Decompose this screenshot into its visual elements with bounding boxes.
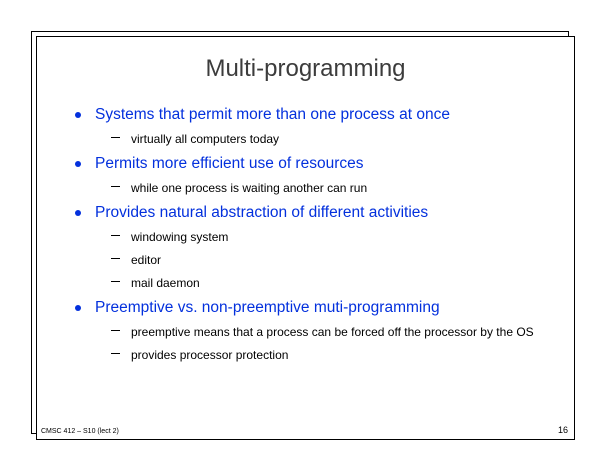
- sub-bullet-item: virtually all computers today: [37, 130, 574, 148]
- sub-bullet-item: windowing system: [37, 228, 574, 246]
- sub-bullet-text: virtually all computers today: [131, 132, 279, 146]
- slide-title: Multi-programming: [37, 55, 574, 83]
- sub-bullet-text: provides processor protection: [131, 348, 288, 362]
- bullet-text: Systems that permit more than one proces…: [95, 106, 450, 123]
- dash-bullet-icon: [111, 281, 120, 282]
- sub-bullet-item: preemptive means that a process can be f…: [37, 323, 574, 341]
- bullet-group: Provides natural abstraction of differen…: [37, 203, 574, 292]
- bullet-item: Provides natural abstraction of differen…: [37, 203, 574, 223]
- dash-bullet-icon: [111, 353, 120, 354]
- filled-circle-bullet-icon: [75, 210, 81, 216]
- dash-bullet-icon: [111, 186, 120, 187]
- bullet-item: Preemptive vs. non-preemptive muti-progr…: [37, 298, 574, 318]
- sub-bullet-text: editor: [131, 253, 161, 267]
- bullet-text: Permits more efficient use of resources: [95, 155, 364, 172]
- sub-bullet-item: provides processor protection: [37, 346, 574, 364]
- dash-bullet-icon: [111, 330, 120, 331]
- dash-bullet-icon: [111, 258, 120, 259]
- filled-circle-bullet-icon: [75, 161, 81, 167]
- bullet-group: Preemptive vs. non-preemptive muti-progr…: [37, 298, 574, 364]
- slide-content: Multi-programming Systems that permit mo…: [37, 37, 574, 439]
- slide-inner-frame: Multi-programming Systems that permit mo…: [36, 36, 575, 440]
- sub-bullet-item: mail daemon: [37, 274, 574, 292]
- bullet-item: Permits more efficient use of resources: [37, 154, 574, 174]
- sub-bullet-text: while one process is waiting another can…: [131, 181, 367, 195]
- dash-bullet-icon: [111, 235, 120, 236]
- bullet-item: Systems that permit more than one proces…: [37, 105, 574, 125]
- footer-page-number: 16: [558, 425, 568, 435]
- sub-bullet-text: preemptive means that a process can be f…: [131, 325, 534, 339]
- bullet-group: Permits more efficient use of resources …: [37, 154, 574, 197]
- filled-circle-bullet-icon: [75, 112, 81, 118]
- filled-circle-bullet-icon: [75, 305, 81, 311]
- dash-bullet-icon: [111, 137, 120, 138]
- sub-bullet-item: editor: [37, 251, 574, 269]
- sub-bullet-text: mail daemon: [131, 276, 200, 290]
- sub-bullet-text: windowing system: [131, 230, 228, 244]
- bullet-group: Systems that permit more than one proces…: [37, 105, 574, 148]
- slide-bullet-list: Systems that permit more than one proces…: [37, 105, 574, 370]
- footer-course-label: CMSC 412 – S10 (lect 2): [41, 428, 119, 435]
- bullet-text: Provides natural abstraction of differen…: [95, 204, 428, 221]
- bullet-text: Preemptive vs. non-preemptive muti-progr…: [95, 299, 440, 316]
- sub-bullet-item: while one process is waiting another can…: [37, 179, 574, 197]
